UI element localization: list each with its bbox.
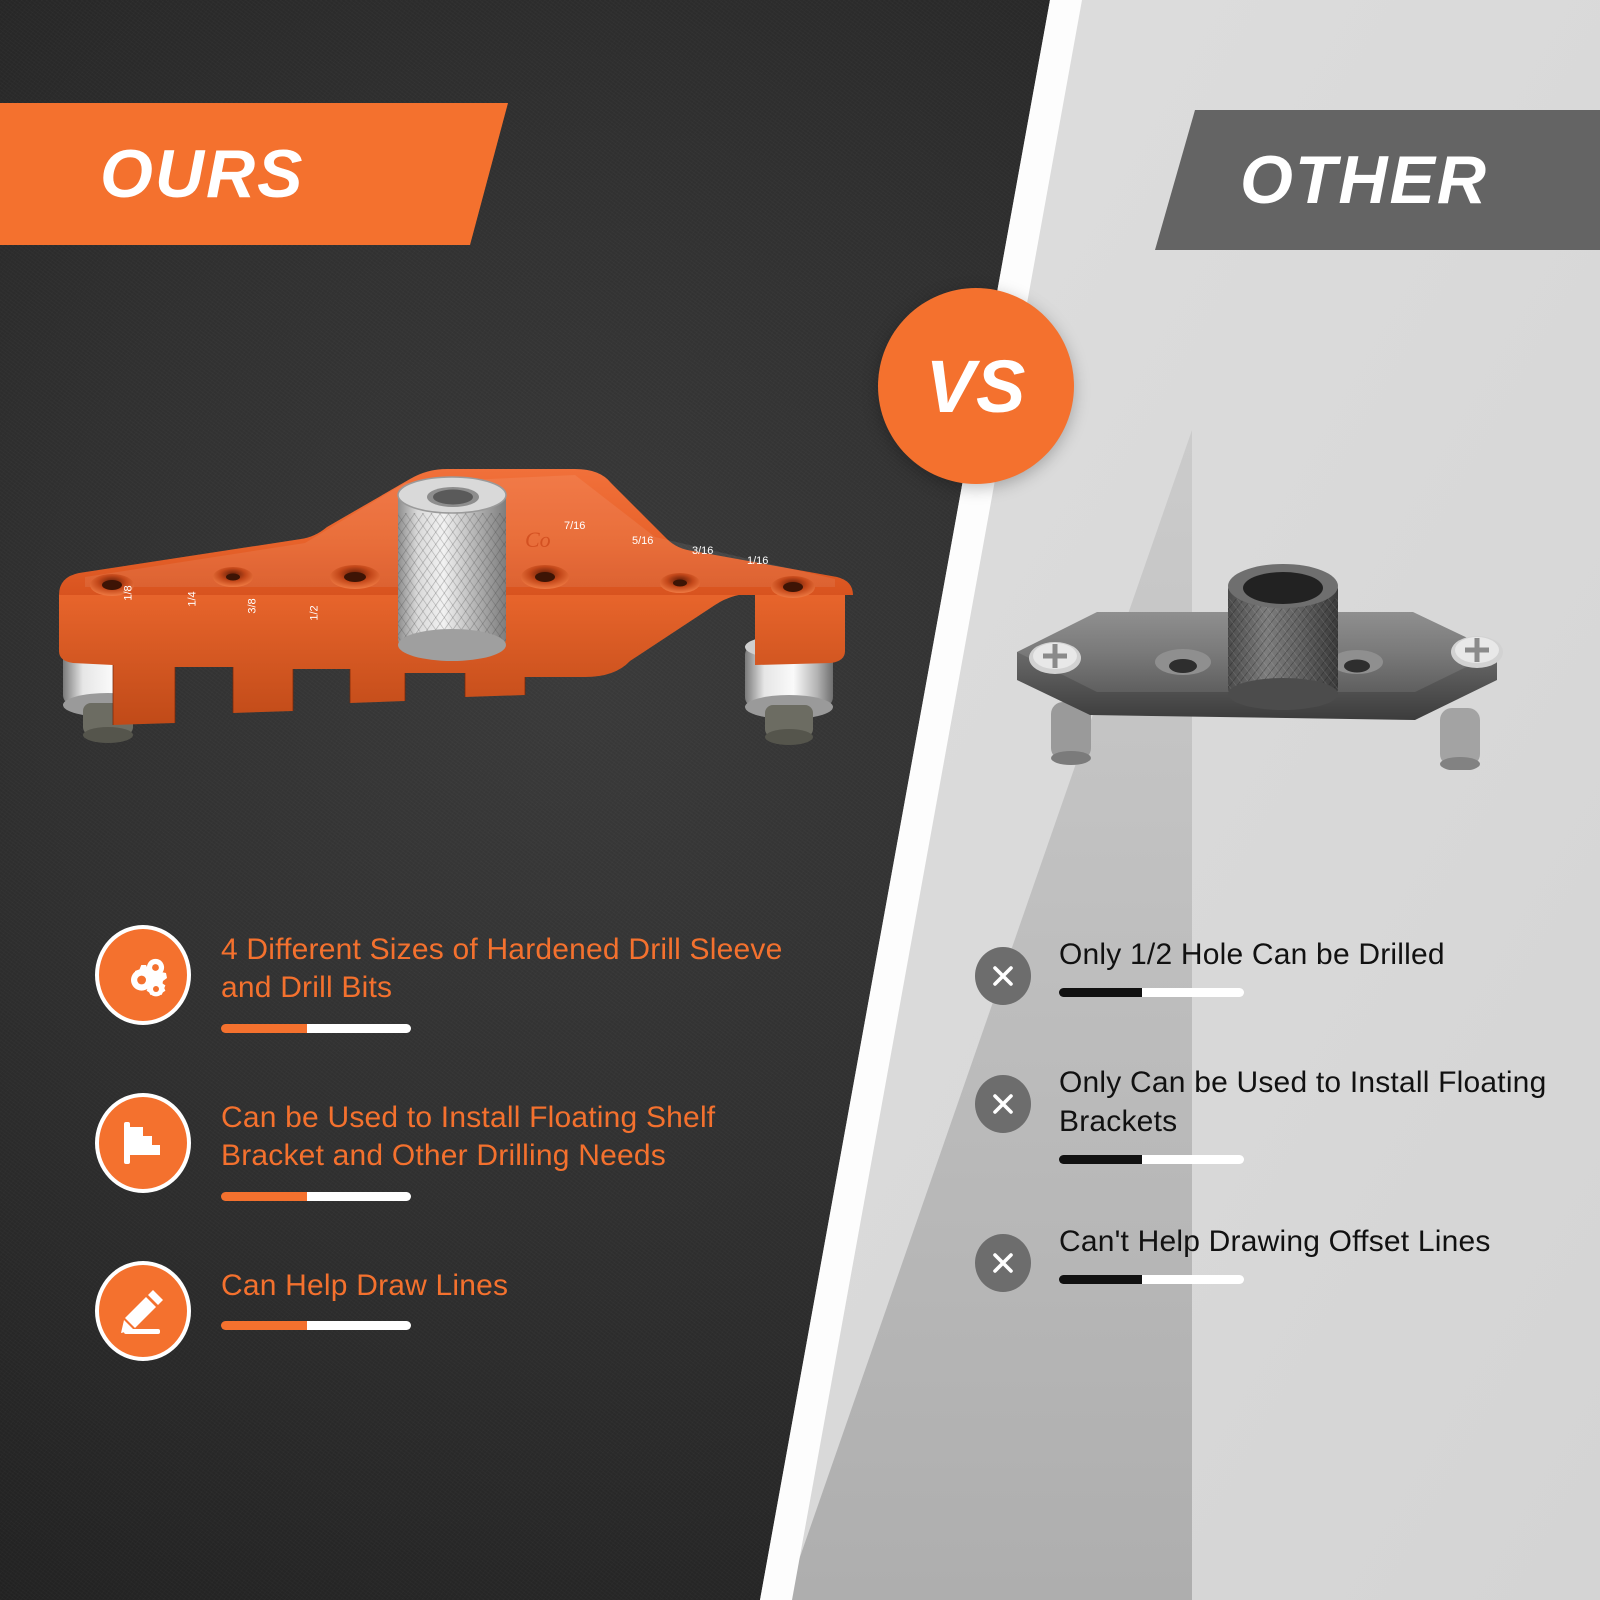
bar-segment-light <box>307 1192 412 1201</box>
phillips-screw-right <box>1451 636 1503 668</box>
feature-item: Can be Used to Install Floating Shelf Br… <box>95 1093 795 1201</box>
orange-jig-illustration: Co <box>55 465 855 775</box>
other-banner: OTHER <box>1155 110 1600 250</box>
x-icon-glyph <box>990 963 1016 989</box>
feature-text: Can Help Draw Lines <box>221 1267 795 1305</box>
bar-segment-light <box>1142 1155 1244 1164</box>
scale-label-back-0: 7/16 <box>564 520 585 532</box>
limitation-underline-bar <box>1059 1155 1244 1164</box>
limitation-text: Only 1/2 Hole Can be Drilled <box>1059 935 1595 974</box>
scale-label-front-3: 1/2 <box>309 605 321 620</box>
other-banner-label: OTHER <box>1240 141 1488 219</box>
other-product-image <box>985 540 1525 770</box>
feature-underline-bar <box>221 1192 411 1201</box>
ours-banner-label: OURS <box>100 135 304 213</box>
other-feature-list: Only 1/2 Hole Can be Drilled Only Can be… <box>975 935 1595 1350</box>
limitation-underline-bar <box>1059 1275 1244 1284</box>
comparison-infographic: OURS OTHER VS <box>0 0 1600 1600</box>
feature-item: 4 Different Sizes of Hardened Drill Slee… <box>95 925 795 1033</box>
bar-segment-light <box>1142 988 1244 997</box>
feature-underline-bar <box>221 1024 411 1033</box>
bar-segment-accent <box>221 1321 307 1330</box>
bar-segment-light <box>307 1024 412 1033</box>
vs-badge: VS <box>878 288 1074 484</box>
vs-badge-label: VS <box>926 344 1027 429</box>
feature-item: Can Help Draw Lines <box>95 1261 795 1361</box>
pencil-icon <box>95 1261 191 1361</box>
gears-icon <box>95 925 191 1025</box>
limitation-item: Only 1/2 Hole Can be Drilled <box>975 935 1595 1005</box>
scale-label-back-2: 3/16 <box>692 545 713 557</box>
bar-segment-dark <box>1059 1155 1142 1164</box>
feature-body: Can be Used to Install Floating Shelf Br… <box>221 1093 795 1201</box>
feature-text: 4 Different Sizes of Hardened Drill Slee… <box>221 931 795 1008</box>
pencil-icon-glyph <box>117 1285 169 1337</box>
feature-body: Can Help Draw Lines <box>221 1261 795 1330</box>
phillips-screw-left <box>1029 642 1081 674</box>
bar-segment-dark <box>1059 1275 1142 1284</box>
bar-segment-accent <box>221 1192 307 1201</box>
limitation-text: Only Can be Used to Install Floating Bra… <box>1059 1063 1595 1141</box>
brand-script: Co <box>525 527 551 552</box>
scale-label-back-3: 1/16 <box>747 555 768 567</box>
jig-step-notches <box>113 665 525 725</box>
scale-label-front-0: 1/8 <box>123 585 135 600</box>
limitation-item: Only Can be Used to Install Floating Bra… <box>975 1063 1595 1164</box>
bar-segment-dark <box>1059 988 1142 997</box>
scale-label-front-2: 3/8 <box>247 598 259 613</box>
bar-segment-light <box>1142 1275 1244 1284</box>
ours-feature-list: 4 Different Sizes of Hardened Drill Slee… <box>95 925 795 1421</box>
x-icon <box>975 1075 1031 1133</box>
x-icon <box>975 1234 1031 1292</box>
x-icon-glyph <box>990 1250 1016 1276</box>
limitation-body: Can't Help Drawing Offset Lines <box>1059 1222 1595 1284</box>
bar-segment-accent <box>221 1024 307 1033</box>
scale-label-front-1: 1/4 <box>187 591 199 606</box>
gray-plate-illustration <box>985 540 1525 770</box>
bar-segment-light <box>307 1321 412 1330</box>
limitation-text: Can't Help Drawing Offset Lines <box>1059 1222 1595 1261</box>
plate-knurled-bushing <box>1228 564 1338 710</box>
ours-product-image: Co 1/8 1/4 3/8 1/2 7/16 5/16 3/16 1/16 <box>55 465 855 775</box>
shelf-bracket-icon <box>95 1093 191 1193</box>
feature-underline-bar <box>221 1321 411 1330</box>
gears-icon-glyph <box>115 947 171 1003</box>
shelf-bracket-icon-glyph <box>118 1118 168 1168</box>
feature-text: Can be Used to Install Floating Shelf Br… <box>221 1099 795 1176</box>
limitation-body: Only Can be Used to Install Floating Bra… <box>1059 1063 1595 1164</box>
knurled-drill-bushing <box>398 477 506 661</box>
ours-banner: OURS <box>0 103 508 245</box>
feature-body: 4 Different Sizes of Hardened Drill Slee… <box>221 925 795 1033</box>
limitation-item: Can't Help Drawing Offset Lines <box>975 1222 1595 1292</box>
x-icon-glyph <box>990 1091 1016 1117</box>
limitation-underline-bar <box>1059 988 1244 997</box>
limitation-body: Only 1/2 Hole Can be Drilled <box>1059 935 1595 997</box>
x-icon <box>975 947 1031 1005</box>
scale-label-back-1: 5/16 <box>632 535 653 547</box>
